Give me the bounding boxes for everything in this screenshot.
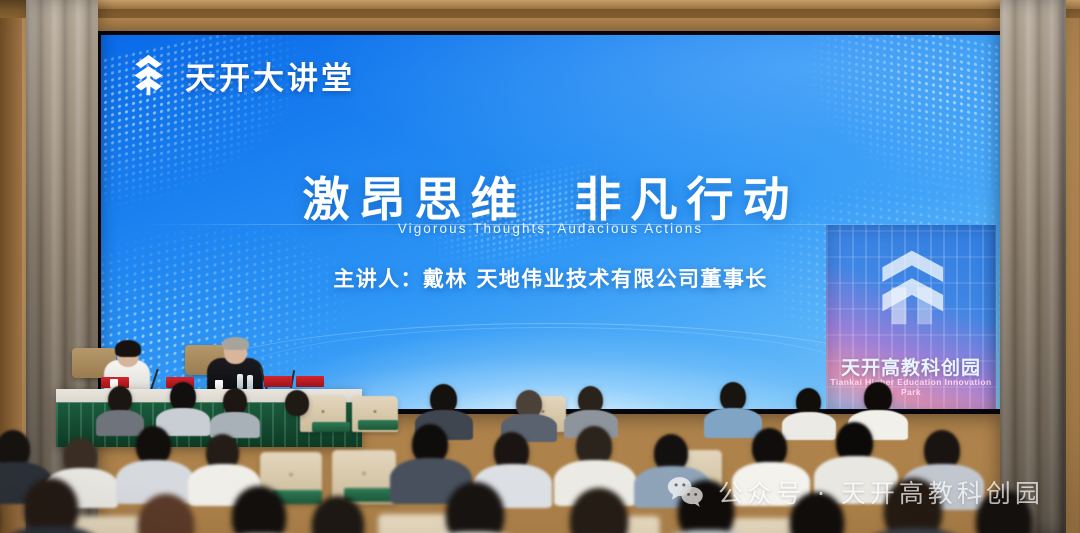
tiankai-park-logo-icon — [862, 247, 958, 339]
brand-lockup: 天开大讲堂 — [125, 52, 355, 99]
ceiling-trim — [30, 0, 1080, 9]
headline-part-2: 非凡行动 — [575, 173, 799, 228]
watermark: 公众号 · 天开高教科创园 — [666, 474, 1044, 510]
screenshot-stage: 天开大讲堂 激昂思维非凡行动 Vigorous Thoughts, Audaci… — [0, 0, 1080, 533]
slide-headline: 激昂思维非凡行动 — [101, 161, 1000, 230]
headline-part-1: 激昂思维 — [303, 173, 527, 228]
watermark-text: 公众号 · 天开高教科创园 — [718, 474, 1044, 510]
tiankai-arrow-logo-icon — [125, 52, 172, 99]
wechat-icon — [666, 476, 704, 508]
brand-title: 天开大讲堂 — [185, 53, 355, 98]
